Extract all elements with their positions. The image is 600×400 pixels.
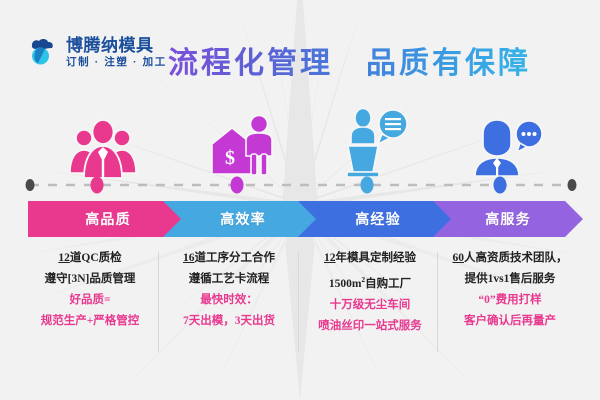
column-line: 12道QC质检 [20, 248, 160, 269]
column-line: 12年模具定制经验 [300, 248, 440, 269]
column-high-quality: 12道QC质检 遵守[3N]品质管理 好品质= 规范生产+严格管控 [20, 248, 160, 332]
timeline-node-high-quality [91, 177, 104, 194]
brand-logo-text: 博腾纳模具 订制 · 注塑 · 加工 [66, 37, 167, 69]
column-line: “0”费用打样 [440, 290, 580, 311]
banner-label: 高品质 [85, 209, 131, 229]
column-line: 喷油丝印一站式服务 [300, 316, 440, 337]
column-line: 十万级无尘车间 [300, 295, 440, 316]
timeline-start-dot [26, 179, 35, 191]
column-high-experience: 12年模具定制经验 1500m2自购工厂 十万级无尘车间 喷油丝印一站式服务 [300, 248, 440, 337]
column-line: 7天出模，3天出货 [159, 311, 299, 332]
banner-high-service[interactable]: 高服务 [433, 199, 583, 239]
banner-label: 高经验 [355, 209, 401, 229]
timeline-end-dot [568, 179, 577, 191]
column-high-service: 60人高资质技术团队， 提供1vs1售后服务 “0”费用打样 客户确认后再量产 [440, 248, 580, 332]
timeline-node-high-service [494, 177, 507, 194]
brand-tagline: 订制 · 注塑 · 加工 [66, 56, 167, 70]
timeline-track [0, 168, 600, 202]
banner-label: 高服务 [485, 209, 531, 229]
page-headline: 流程化管理 品质有保障 [168, 38, 531, 82]
column-line: 客户确认后再量产 [440, 311, 580, 332]
column-line: 16道工序分工合作 [159, 248, 299, 269]
column-line: 提供1vs1售后服务 [440, 269, 580, 290]
column-line: 最快时效： [159, 290, 299, 311]
column-high-efficiency: 16道工序分工合作 遵循工艺卡流程 最快时效： 7天出模，3天出货 [159, 248, 299, 332]
column-line: 好品质= [20, 290, 160, 311]
column-line: 遵循工艺卡流程 [159, 269, 299, 290]
column-line: 60人高资质技术团队， [440, 248, 580, 269]
header: 博腾纳模具 订制 · 注塑 · 加工 流程化管理 品质有保障 [0, 0, 600, 95]
column-line: 规范生产+严格管控 [20, 311, 160, 332]
column-line: 遵守[3N]品质管理 [20, 269, 160, 290]
timeline-node-high-efficiency [231, 177, 244, 194]
banner-label: 高效率 [220, 209, 266, 229]
brand-name: 博腾纳模具 [66, 37, 167, 55]
poster-canvas: 博腾纳模具 订制 · 注塑 · 加工 流程化管理 品质有保障 [0, 0, 600, 400]
detail-columns: 12道QC质检 遵守[3N]品质管理 好品质= 规范生产+严格管控 16道工序分… [0, 248, 600, 358]
brand-logo: 博腾纳模具 订制 · 注塑 · 加工 [26, 36, 167, 70]
banner-row: 高品质 高效率 高经验 高服务 [0, 199, 600, 239]
svg-text:$: $ [225, 147, 235, 169]
botengna-cloud-logo-icon [26, 36, 60, 70]
column-line: 1500m2自购工厂 [300, 269, 440, 295]
timeline-node-high-experience [361, 177, 374, 194]
